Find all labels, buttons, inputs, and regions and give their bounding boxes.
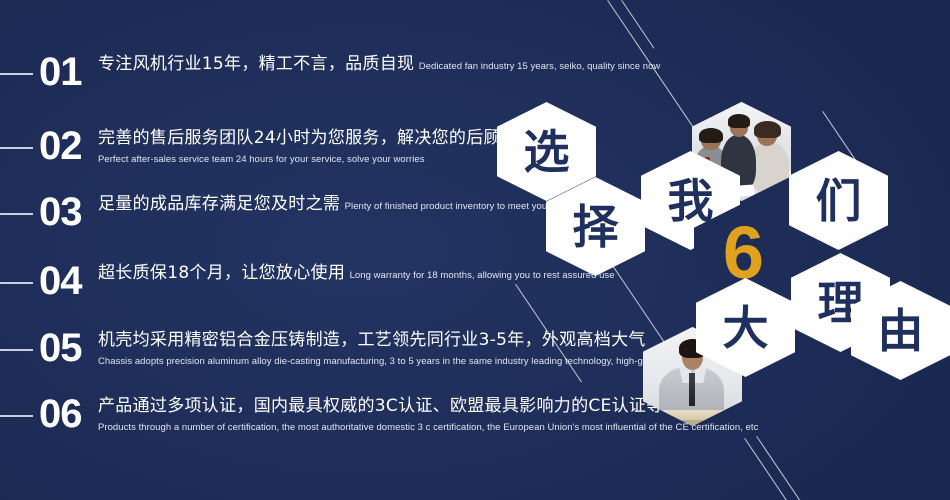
leader-dash-icon <box>0 415 33 417</box>
reason-headline-cn: 完善的售后服务团队24小时为您服务，解决您的后顾之忧 <box>98 128 535 148</box>
reason-item-05[interactable]: 05 机壳均采用精密铝合金压铸制造，工艺领先同行业3-5年，外观高档大气 Cha… <box>0 328 720 369</box>
diagonal-line-6 <box>744 438 795 500</box>
leader-dash-icon <box>0 147 33 149</box>
reason-number: 06 <box>39 394 94 434</box>
reason-headline-cn: 超长质保18个月，让您放心使用 <box>98 263 345 283</box>
hex-char-da: 大 <box>723 305 769 351</box>
six-reasons-banner: 01 专注风机行业15年，精工不言，品质自现 Dedicated fan ind… <box>0 0 950 500</box>
hex-char-wo: 我 <box>668 178 714 224</box>
leader-dash-icon <box>0 282 33 284</box>
hex-char-ze: 择 <box>573 204 619 250</box>
leader-dash-icon <box>0 73 33 75</box>
reason-number: 03 <box>39 192 94 232</box>
hex-number-six: 6 <box>723 216 764 290</box>
diagonal-line-7 <box>756 436 813 500</box>
reason-subline-en: Long warranty for 18 months, allowing yo… <box>350 270 615 281</box>
reason-item-01[interactable]: 01 专注风机行业15年，精工不言，品质自现 Dedicated fan ind… <box>0 52 720 92</box>
reason-subline-en: Products through a number of certificati… <box>98 422 758 433</box>
hex-cell-men[interactable]: 们 <box>789 151 888 250</box>
reason-headline-cn: 专注风机行业15年，精工不言，品质自现 <box>98 54 414 74</box>
hex-char-men: 们 <box>816 178 862 224</box>
reason-text-block: 完善的售后服务团队24小时为您服务，解决您的后顾之忧 Perfect after… <box>98 126 720 167</box>
reason-headline-cn: 足量的成品库存满足您及时之需 <box>98 194 340 214</box>
leader-dash-icon <box>0 213 33 215</box>
hex-char-xuan: 选 <box>524 129 570 175</box>
reason-item-02[interactable]: 02 完善的售后服务团队24小时为您服务，解决您的后顾之忧 Perfect af… <box>0 126 720 167</box>
reason-subline-en: Perfect after-sales service team 24 hour… <box>98 154 425 165</box>
reason-number: 02 <box>39 126 94 166</box>
reason-subline-en: Dedicated fan industry 15 years, seiko, … <box>419 61 661 72</box>
reason-headline-cn: 产品通过多项认证，国内最具权威的3C认证、欧盟最具影响力的CE认证等 <box>98 396 664 416</box>
reason-number: 01 <box>39 52 94 92</box>
reason-text-block: 专注风机行业15年，精工不言，品质自现 Dedicated fan indust… <box>98 52 720 75</box>
reason-item-06[interactable]: 06 产品通过多项认证，国内最具权威的3C认证、欧盟最具影响力的CE认证等 Pr… <box>0 394 720 435</box>
leader-dash-icon <box>0 349 33 351</box>
reason-number: 04 <box>39 261 94 301</box>
reason-number: 05 <box>39 328 94 368</box>
hex-char-you: 由 <box>878 308 924 354</box>
reason-text-block: 超长质保18个月，让您放心使用 Long warranty for 18 mon… <box>98 261 720 284</box>
reason-headline-cn: 机壳均采用精密铝合金压铸制造，工艺领先同行业3-5年，外观高档大气 <box>98 330 646 350</box>
